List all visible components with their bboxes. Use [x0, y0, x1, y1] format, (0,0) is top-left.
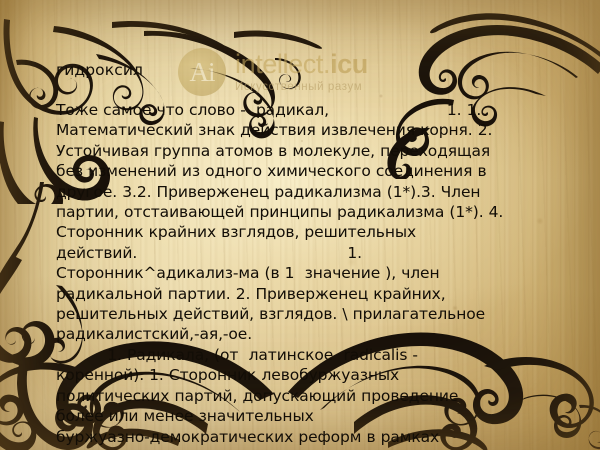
parchment-page: Ai intellect.icu Искусственный разум гид… — [0, 0, 600, 450]
article-headword: гидроксил — [56, 60, 568, 80]
article-paragraph-1: Тоже самое что слово - радикал, 1. 1. Ма… — [56, 100, 568, 345]
dictionary-article: гидроксил Тоже самое что слово - радикал… — [56, 60, 568, 450]
article-paragraph-2: 1. Радикала, (от латинское radicalis - к… — [56, 345, 568, 450]
